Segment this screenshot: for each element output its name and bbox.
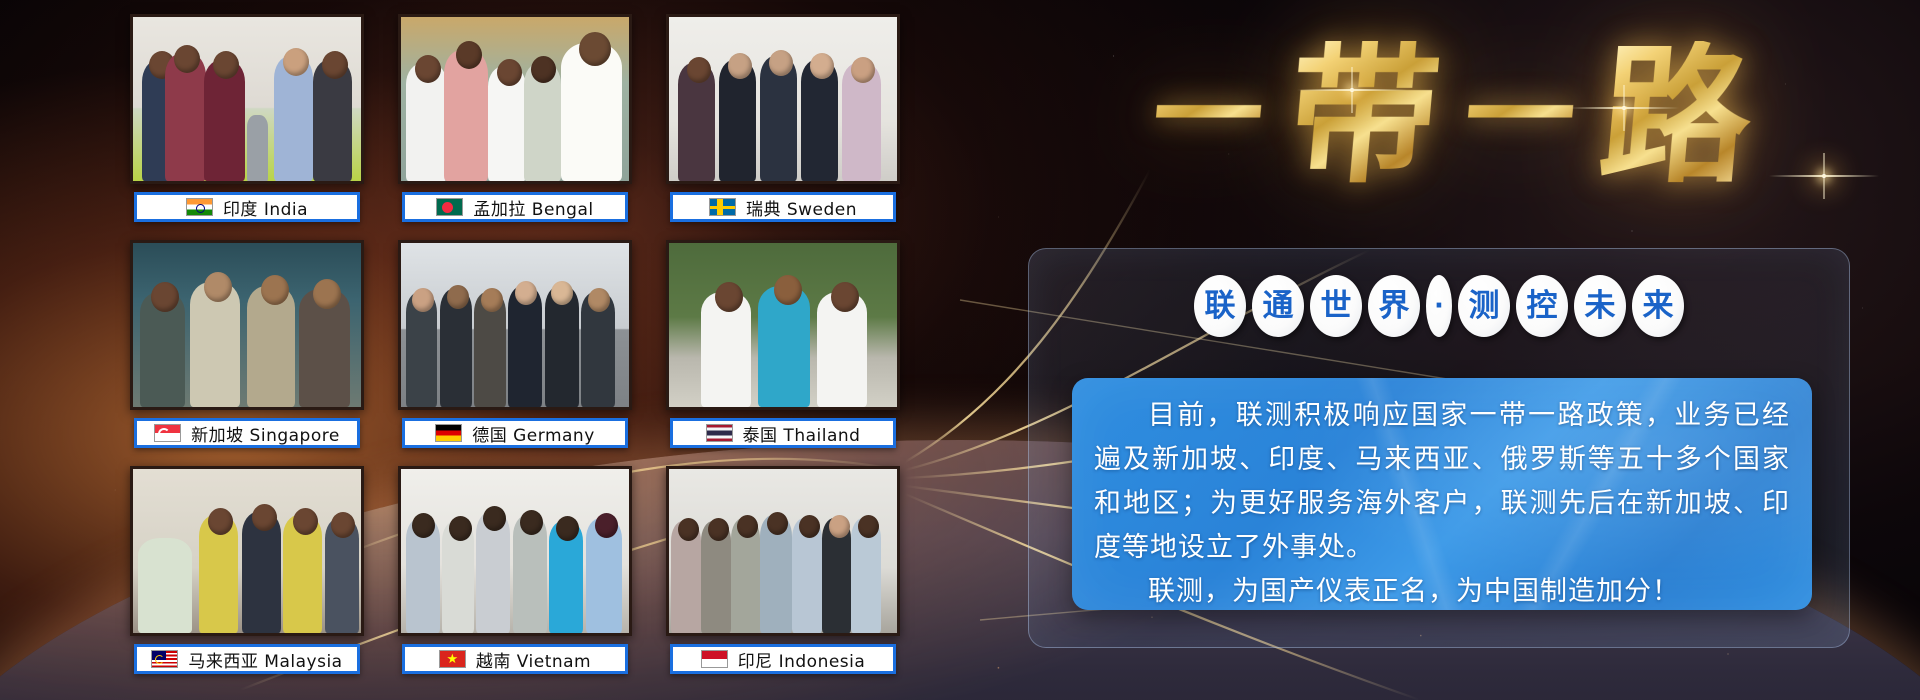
slogan-char-text: 未 [1585,291,1616,322]
description-box: 目前，联测积极响应国家一带一路政策，业务已经遍及新加坡、印度、马来西亚、俄罗斯等… [1072,378,1812,610]
sparkle-decoration [1350,88,1354,92]
photo-image-sweden [669,17,897,181]
flag-malaysia-icon [151,650,178,668]
slogan-char-text: 通 [1263,291,1294,322]
photo-card-germany[interactable]: 德国 Germany [398,240,632,452]
description-paragraph-2: 联测，为国产仪表正名，为中国制造加分！ [1094,570,1790,610]
photo-frame [666,240,900,410]
slogan-char-3: 世 [1310,275,1362,337]
photo-frame [130,466,364,636]
slogan-char-text: 联 [1205,291,1236,322]
flag-vietnam-icon [439,650,466,668]
photo-frame [398,240,632,410]
country-label-vietnam: 越南 Vietnam [402,644,628,674]
photo-frame [130,14,364,184]
photo-image-malaysia [133,469,361,633]
calligraphy-char-2: 带 [1282,41,1445,191]
photo-image-bengal [401,17,629,181]
country-label-malaysia: 马来西亚 Malaysia [134,644,360,674]
country-label-sweden: 瑞典 Sweden [670,192,896,222]
slogan-char-text: · [1434,293,1444,319]
flag-singapore-icon [154,424,181,442]
slogan-char-5: 测 [1458,275,1510,337]
country-label-text: 马来西亚 Malaysia [188,647,342,672]
photo-frame [666,14,900,184]
calligraphy-char-1: 一 [1148,61,1268,171]
flag-bangladesh-icon [436,198,463,216]
country-label-text: 德国 Germany [472,421,595,446]
slogan-char-7: 未 [1574,275,1626,337]
flag-indonesia-icon [701,650,728,668]
slogan-separator-dot: · [1426,275,1452,337]
slogan-char-text: 世 [1321,291,1352,322]
country-label-bengal: 孟加拉 Bengal [402,192,628,222]
country-label-text: 新加坡 Singapore [191,421,340,446]
photo-image-germany [401,243,629,407]
calligraphy-char-4: 路 [1594,41,1757,191]
photo-frame [398,466,632,636]
slogan-char-text: 控 [1527,291,1558,322]
right-content-column: 一 带 一 路 联 通 世 界 · 测 控 未 来 目前，联测积极响应国家一带一… [1010,0,1890,700]
slogan-char-1: 联 [1194,275,1246,337]
country-label-text: 孟加拉 Bengal [473,195,593,220]
country-label-singapore: 新加坡 Singapore [134,418,360,448]
country-label-text: 泰国 Thailand [743,421,861,446]
photo-card-malaysia[interactable]: 马来西亚 Malaysia [130,466,364,678]
slogan-char-text: 界 [1379,291,1410,322]
country-label-thailand: 泰国 Thailand [670,418,896,448]
photo-image-vietnam [401,469,629,633]
country-label-indonesia: 印尼 Indonesia [670,644,896,674]
slogan-char-8: 来 [1632,275,1684,337]
country-label-text: 瑞典 Sweden [746,195,857,220]
photo-image-india [133,17,361,181]
photo-frame [130,240,364,410]
photo-image-indonesia [669,469,897,633]
sparkle-decoration [1622,106,1626,110]
photo-image-singapore [133,243,361,407]
flag-india-icon [186,198,213,216]
sparkle-decoration [1822,174,1826,178]
country-photo-grid: 印度 India [130,14,910,690]
slogan-char-2: 通 [1252,275,1304,337]
banner-stage: 印度 India [0,0,1920,700]
photo-image-thailand [669,243,897,407]
photo-card-sweden[interactable]: 瑞典 Sweden [666,14,900,226]
belt-and-road-title: 一 带 一 路 [1032,6,1872,226]
country-label-text: 印度 India [223,195,308,220]
flag-thailand-icon [706,424,733,442]
photo-frame [398,14,632,184]
slogan-char-6: 控 [1516,275,1568,337]
flag-sweden-icon [709,198,736,216]
description-paragraph-1: 目前，联测积极响应国家一带一路政策，业务已经遍及新加坡、印度、马来西亚、俄罗斯等… [1094,394,1790,570]
company-slogan: 联 通 世 界 · 测 控 未 来 [1028,262,1850,350]
calligraphy-char-3: 一 [1460,61,1580,171]
country-label-text: 印尼 Indonesia [738,647,866,672]
slogan-char-4: 界 [1368,275,1420,337]
photo-card-indonesia[interactable]: 印尼 Indonesia [666,466,900,678]
country-label-germany: 德国 Germany [402,418,628,448]
photo-card-singapore[interactable]: 新加坡 Singapore [130,240,364,452]
photo-card-vietnam[interactable]: 越南 Vietnam [398,466,632,678]
slogan-char-text: 测 [1469,291,1500,322]
slogan-char-text: 来 [1643,291,1674,322]
photo-frame [666,466,900,636]
country-label-india: 印度 India [134,192,360,222]
photo-card-thailand[interactable]: 泰国 Thailand [666,240,900,452]
flag-germany-icon [435,424,462,442]
country-label-text: 越南 Vietnam [476,647,591,672]
photo-card-india[interactable]: 印度 India [130,14,364,226]
photo-card-bengal[interactable]: 孟加拉 Bengal [398,14,632,226]
